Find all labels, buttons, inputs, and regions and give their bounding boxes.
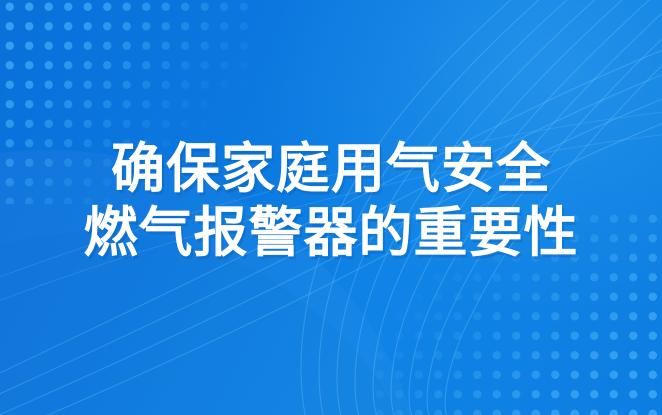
headline-line-1: 确保家庭用气安全 [0,137,662,201]
headline-line-2: 燃气报警器的重要性 [0,201,662,265]
headline: 确保家庭用气安全 燃气报警器的重要性 [0,137,662,265]
gas-safety-banner: 确保家庭用气安全 燃气报警器的重要性 [0,0,662,415]
